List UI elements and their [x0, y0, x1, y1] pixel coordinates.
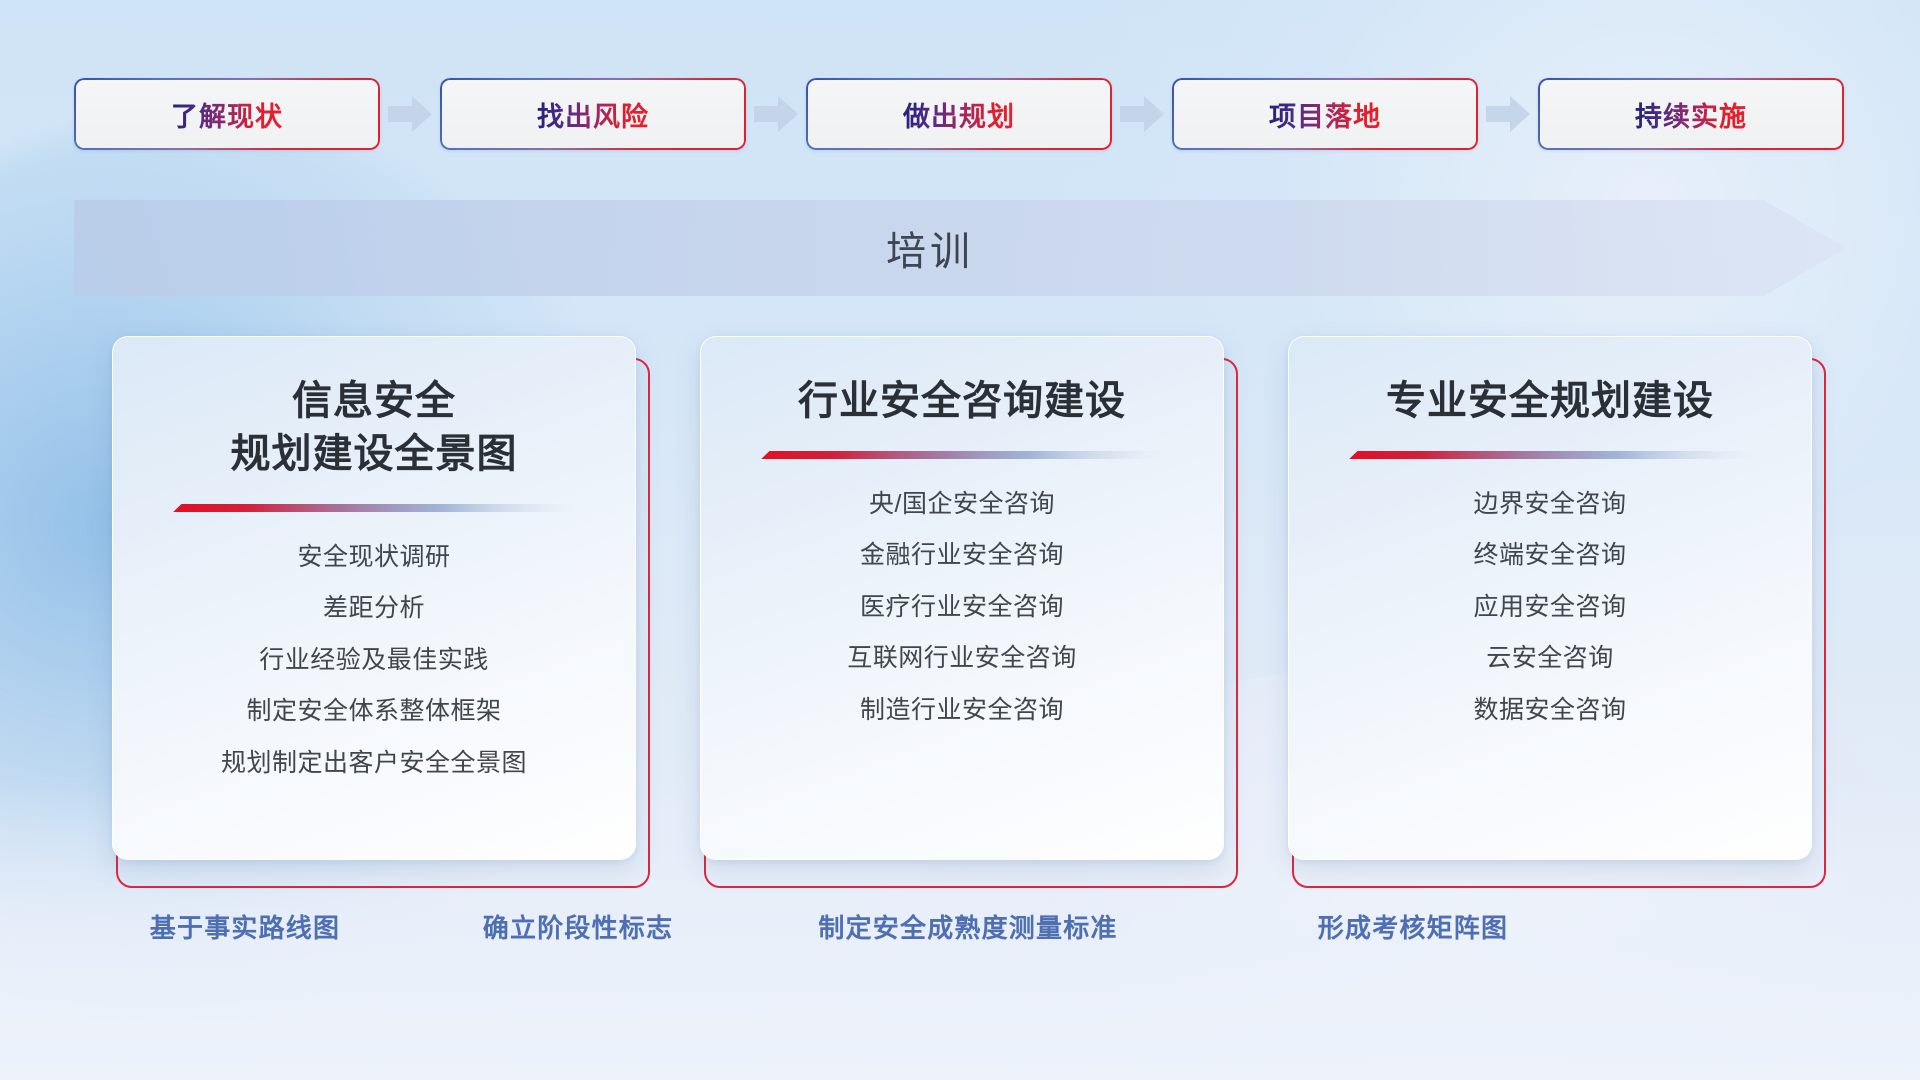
card-2: 行业安全咨询建设央/国企安全咨询金融行业安全咨询医疗行业安全咨询互联网行业安全咨…: [700, 336, 1224, 888]
chevron-right-arrow-icon: [746, 78, 806, 150]
list-item: 规划制定出客户安全全景图: [221, 745, 527, 783]
card-item-list: 央/国企安全咨询金融行业安全咨询医疗行业安全咨询互联网行业安全咨询制造行业安全咨…: [727, 486, 1197, 730]
footer-label-2: 确立阶段性标志: [483, 908, 673, 945]
list-item: 行业经验及最佳实践: [259, 642, 489, 680]
card-title: 专业安全规划建设: [1386, 375, 1714, 428]
list-item: 数据安全咨询: [1473, 692, 1626, 730]
step-box-5[interactable]: 持续实施: [1538, 78, 1844, 150]
footer-labels: 基于事实路线图确立阶段性标志制定安全成熟度测量标准形成考核矩阵图: [0, 908, 1920, 958]
step-label: 找出风险: [537, 95, 649, 134]
list-item: 云安全咨询: [1486, 640, 1614, 678]
card-1: 信息安全 规划建设全景图安全现状调研差距分析行业经验及最佳实践制定安全体系整体框…: [112, 336, 636, 888]
list-item: 制定安全体系整体框架: [246, 693, 501, 731]
step-box-3[interactable]: 做出规划: [806, 78, 1112, 150]
footer-label-1: 基于事实路线图: [150, 908, 340, 945]
list-item: 互联网行业安全咨询: [847, 640, 1077, 678]
banner-label: 培训: [74, 200, 1846, 296]
card-title: 信息安全 规划建设全景图: [231, 375, 518, 481]
card-item-list: 边界安全咨询终端安全咨询应用安全咨询云安全咨询数据安全咨询: [1315, 486, 1785, 730]
step-label: 了解现状: [171, 95, 283, 134]
step-label: 持续实施: [1635, 95, 1747, 134]
footer-label-4: 形成考核矩阵图: [1318, 908, 1508, 945]
card-divider-rule: [755, 450, 1169, 460]
card-row: 信息安全 规划建设全景图安全现状调研差距分析行业经验及最佳实践制定安全体系整体框…: [112, 336, 1812, 888]
step-flow: 了解现状找出风险做出规划项目落地持续实施: [74, 78, 1846, 150]
list-item: 应用安全咨询: [1473, 589, 1626, 627]
card-title: 行业安全咨询建设: [798, 375, 1126, 428]
step-label: 项目落地: [1269, 95, 1381, 134]
card-item-list: 安全现状调研差距分析行业经验及最佳实践制定安全体系整体框架规划制定出客户安全全景…: [139, 539, 609, 783]
chevron-right-arrow-icon: [1112, 78, 1172, 150]
step-box-2[interactable]: 找出风险: [440, 78, 746, 150]
card-body: 专业安全规划建设边界安全咨询终端安全咨询应用安全咨询云安全咨询数据安全咨询: [1288, 336, 1812, 860]
list-item: 金融行业安全咨询: [860, 537, 1064, 575]
chevron-right-arrow-icon: [1478, 78, 1538, 150]
list-item: 终端安全咨询: [1473, 537, 1626, 575]
card-body: 行业安全咨询建设央/国企安全咨询金融行业安全咨询医疗行业安全咨询互联网行业安全咨…: [700, 336, 1224, 860]
list-item: 央/国企安全咨询: [869, 486, 1055, 524]
list-item: 安全现状调研: [297, 539, 450, 577]
step-box-1[interactable]: 了解现状: [74, 78, 380, 150]
card-3: 专业安全规划建设边界安全咨询终端安全咨询应用安全咨询云安全咨询数据安全咨询: [1288, 336, 1812, 888]
list-item: 差距分析: [323, 590, 425, 628]
list-item: 制造行业安全咨询: [860, 692, 1064, 730]
chevron-right-arrow-icon: [380, 78, 440, 150]
card-divider-rule: [167, 503, 581, 513]
list-item: 医疗行业安全咨询: [860, 589, 1064, 627]
footer-label-3: 制定安全成熟度测量标准: [818, 908, 1117, 945]
card-divider-rule: [1343, 450, 1757, 460]
step-box-4[interactable]: 项目落地: [1172, 78, 1478, 150]
card-body: 信息安全 规划建设全景图安全现状调研差距分析行业经验及最佳实践制定安全体系整体框…: [112, 336, 636, 860]
training-banner: 培训: [74, 200, 1846, 296]
step-label: 做出规划: [903, 95, 1015, 134]
list-item: 边界安全咨询: [1473, 486, 1626, 524]
